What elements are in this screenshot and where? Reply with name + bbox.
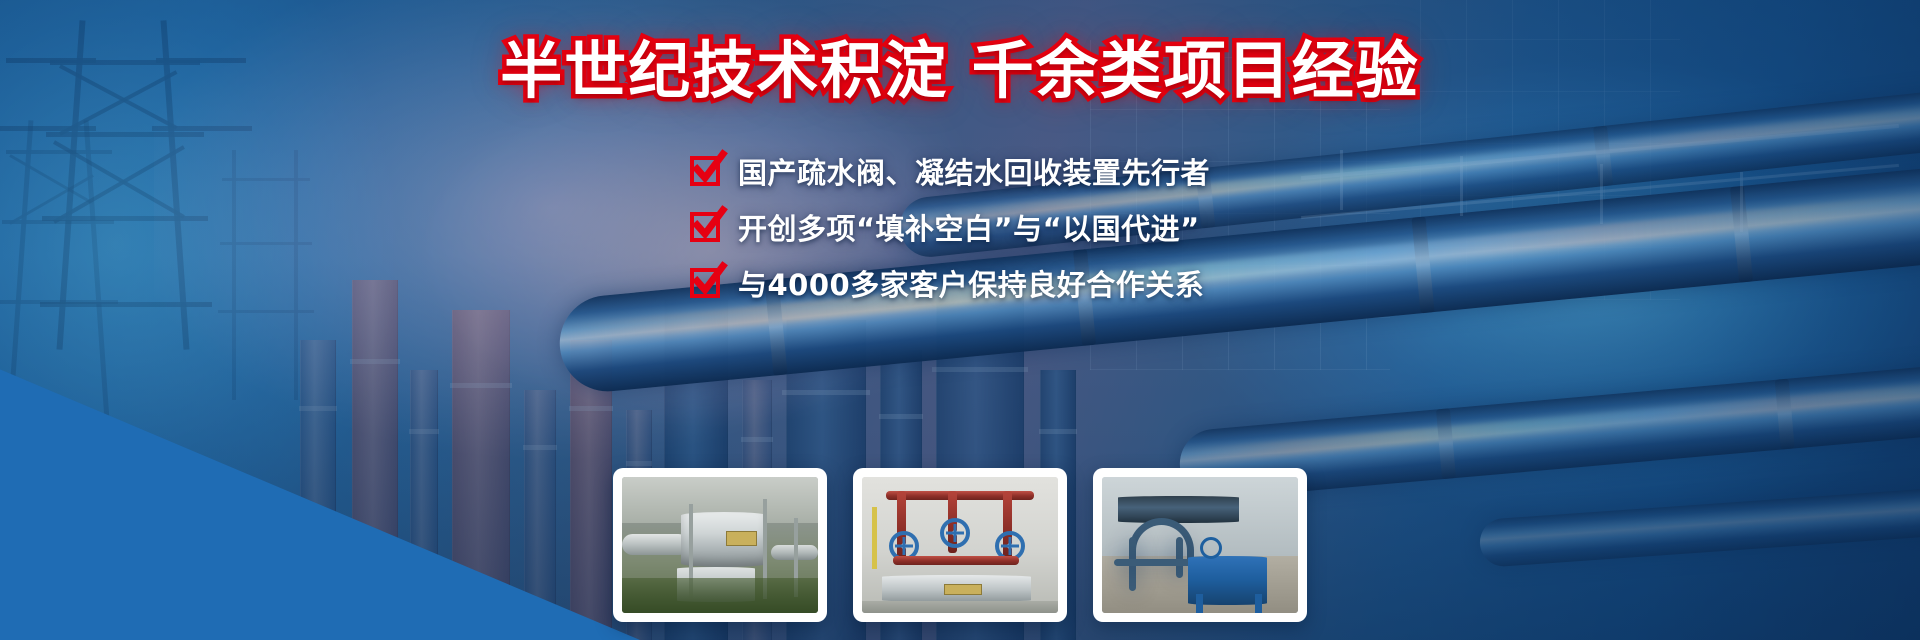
list-item: 开创多项“填补空白”与“以国代进”: [690, 206, 1230, 248]
valve-wheel-icon: [1200, 537, 1222, 559]
list-item: 国产疏水阀、凝结水回收装置先行者: [690, 150, 1230, 192]
list-item: 与4000多家客户保持良好合作关系: [690, 262, 1230, 304]
list-item-label: 与4000多家客户保持良好合作关系: [738, 262, 1204, 304]
equipment-photo-card[interactable]: [853, 468, 1067, 622]
list-item-label: 国产疏水阀、凝结水回收装置先行者: [738, 150, 1210, 192]
hero-banner: 半世纪技术积淀 千余类项目经验 国产疏水阀、凝结水回收装置先行者 开创多项“填补…: [0, 0, 1920, 640]
checkbox-checked-icon: [690, 212, 720, 242]
equipment-photo-1: [622, 477, 818, 613]
equipment-photo-card[interactable]: [613, 468, 827, 622]
checkbox-checked-icon: [690, 156, 720, 186]
list-item-label: 开创多项“填补空白”与“以国代进”: [738, 206, 1200, 248]
equipment-photo-card[interactable]: [1093, 468, 1307, 622]
checkbox-checked-icon: [690, 268, 720, 298]
equipment-photo-3: [1102, 477, 1298, 613]
equipment-photo-2: [862, 477, 1058, 613]
valve-wheel-icon: [940, 518, 970, 548]
equipment-photo-gallery: [613, 468, 1307, 622]
feature-list: 国产疏水阀、凝结水回收装置先行者 开创多项“填补空白”与“以国代进” 与4000…: [0, 150, 1920, 304]
